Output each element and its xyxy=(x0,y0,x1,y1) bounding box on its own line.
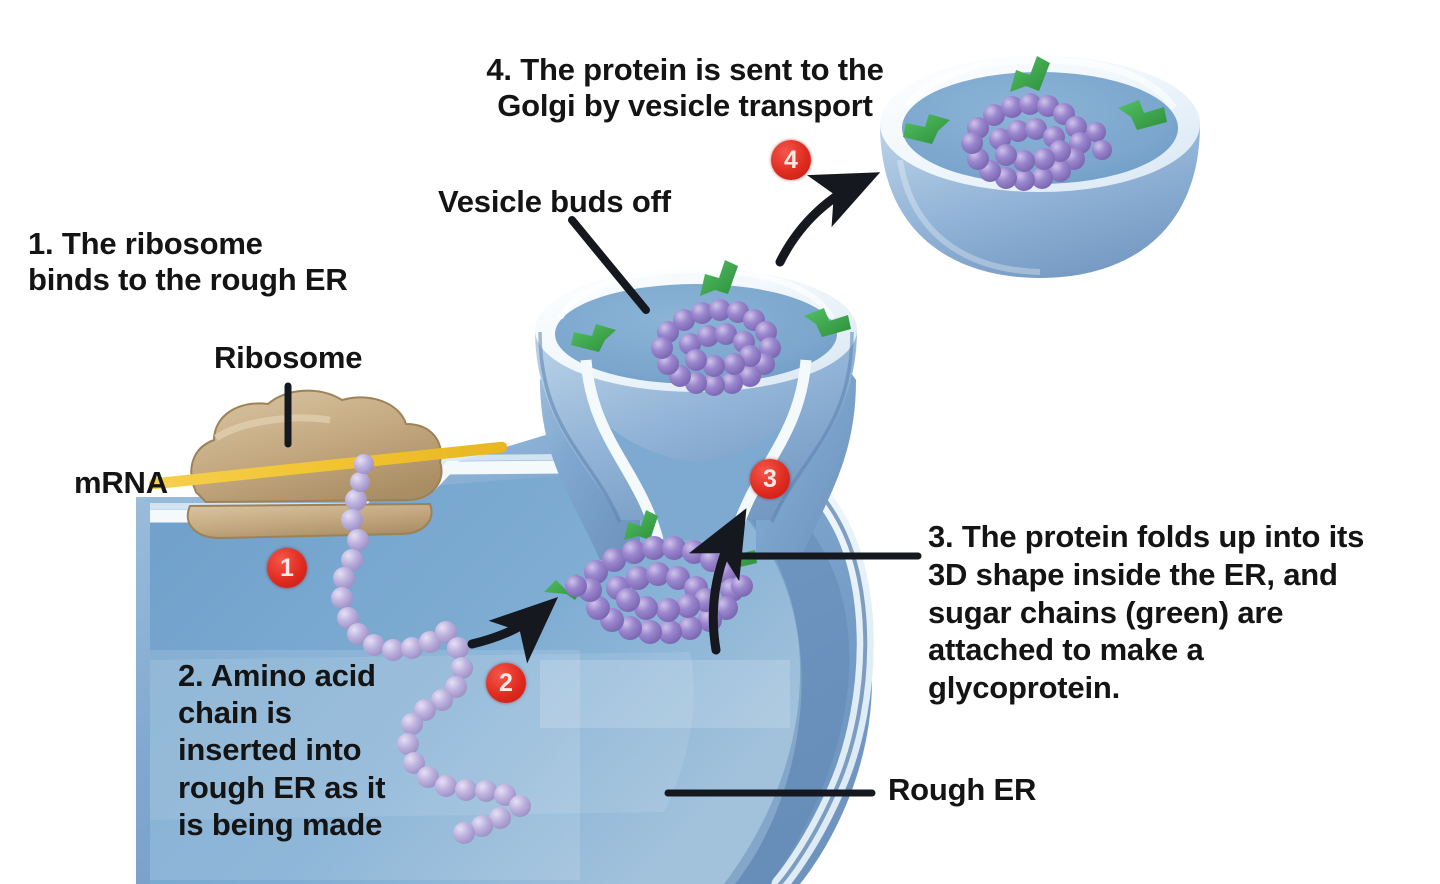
step-3-caption: 3. The protein folds up into its 3D shap… xyxy=(928,518,1408,707)
step-badge-3: 3 xyxy=(750,459,790,499)
step-4-caption: 4. The protein is sent to the Golgi by v… xyxy=(470,52,900,125)
mrna-label: mRNA xyxy=(74,465,168,501)
step-badge-2: 2 xyxy=(486,663,526,703)
vesicle-buds-off-label: Vesicle buds off xyxy=(438,184,671,220)
ribosome-label: Ribosome xyxy=(214,340,362,376)
ribosome-small-subunit xyxy=(188,504,432,538)
step-badge-1: 1 xyxy=(267,548,307,588)
step4-arrow xyxy=(780,178,868,262)
ribosome-large-subunit xyxy=(191,391,441,502)
rough-er-label: Rough ER xyxy=(888,772,1036,808)
step-badge-4: 4 xyxy=(771,140,811,180)
step-2-caption: 2. Amino acid chain is inserted into rou… xyxy=(178,657,393,843)
step-1-caption: 1. The ribosome binds to the rough ER xyxy=(28,226,408,299)
er-lumen-light-patch xyxy=(540,660,790,728)
diagram-canvas: 4. The protein is sent to the Golgi by v… xyxy=(0,0,1440,884)
